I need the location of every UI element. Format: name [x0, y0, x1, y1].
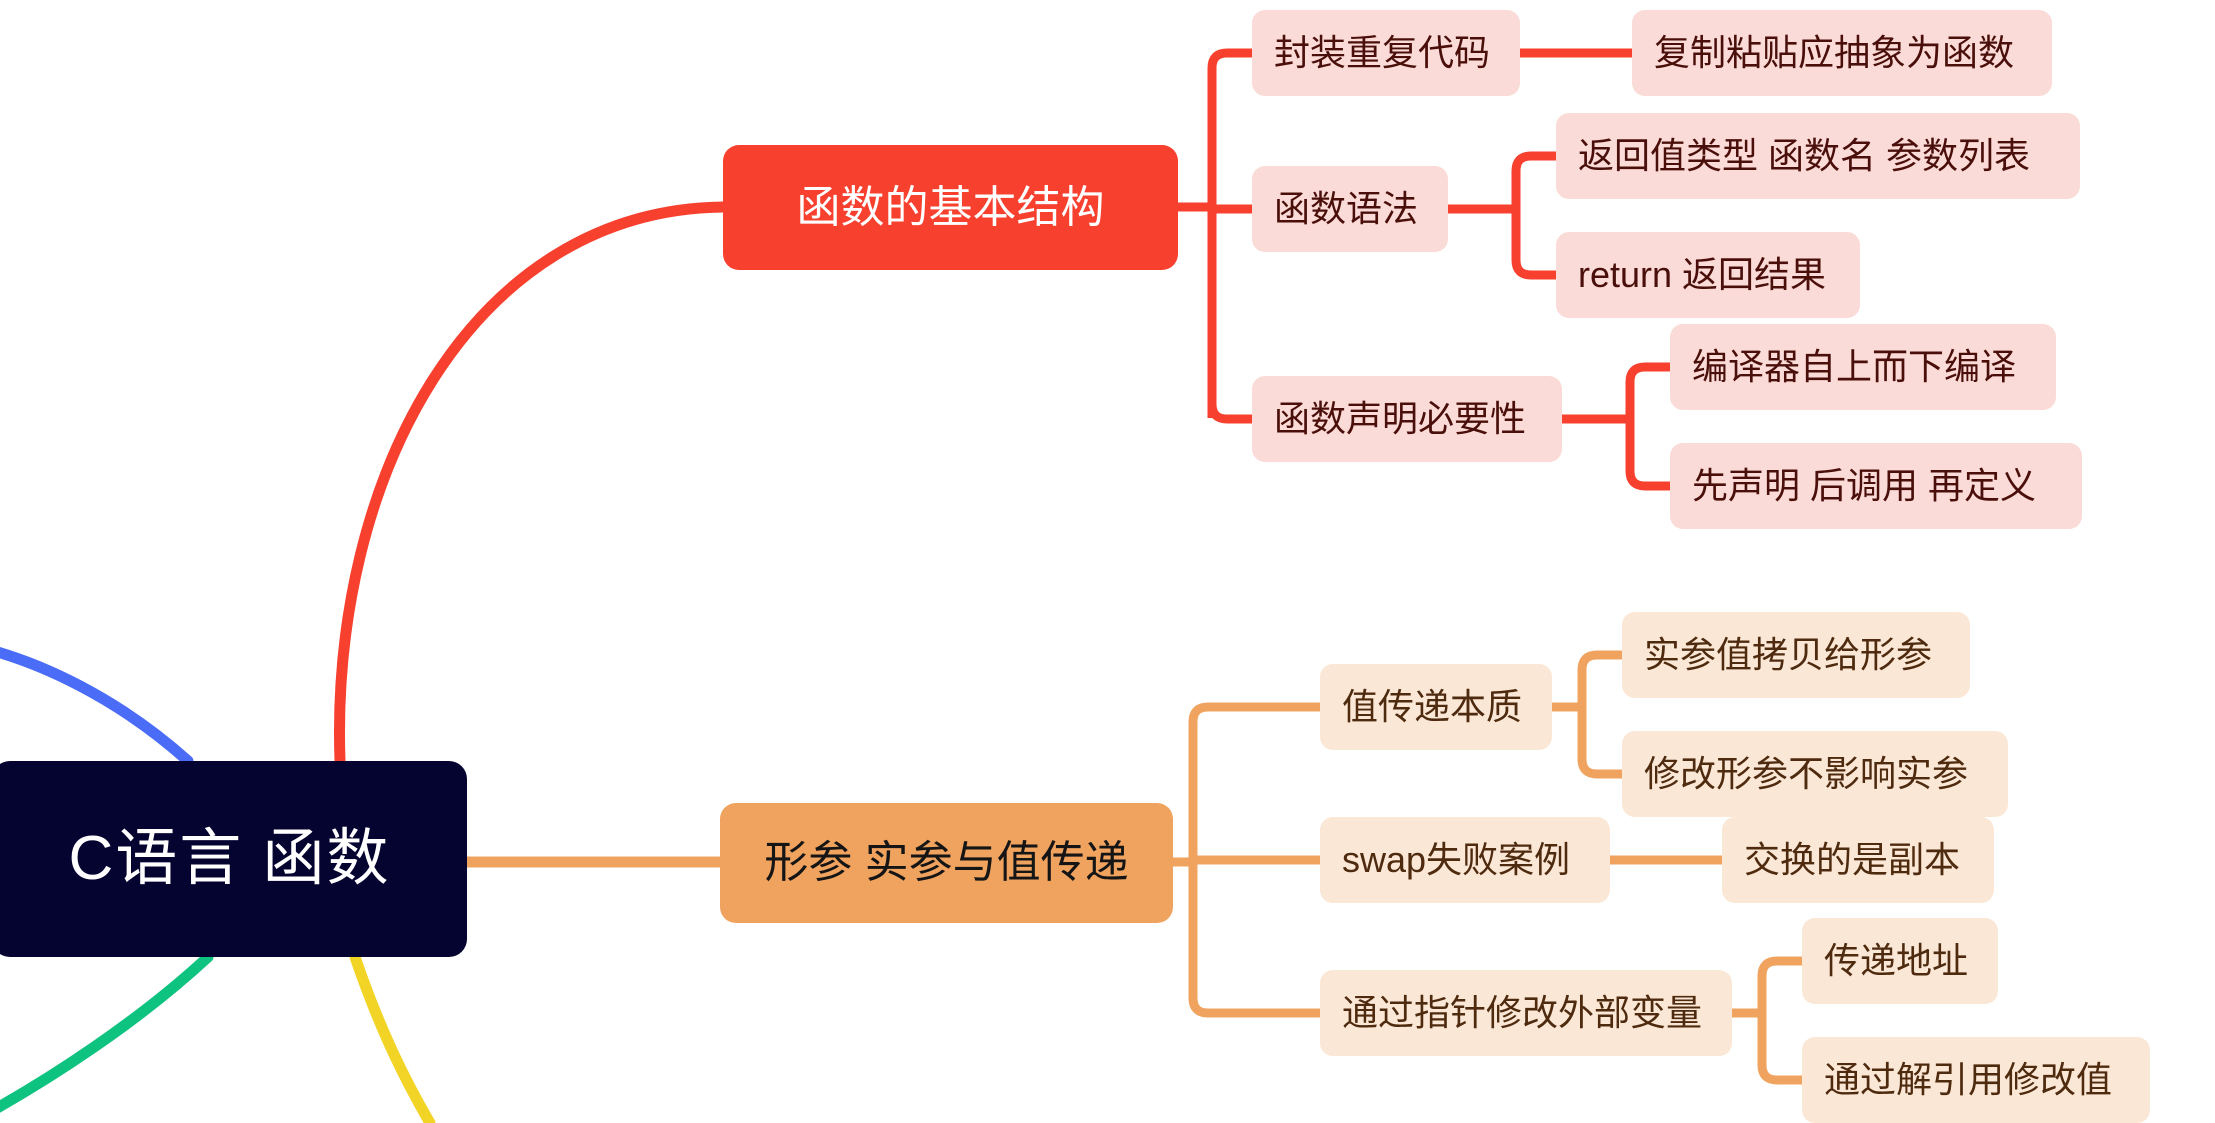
node-actual-copied-to-formal[interactable]: 实参值拷贝给形参: [1622, 612, 1970, 698]
node-swap-failure-case[interactable]: swap失败案例: [1320, 817, 1610, 903]
green-branch-stub: [0, 957, 208, 1123]
connector-value-passing-to-modify-formal: [1582, 707, 1622, 774]
branch-node-function-basic-structure[interactable]: 函数的基本结构: [723, 145, 1178, 270]
node-swapping-the-copy[interactable]: 交换的是副本: [1722, 817, 1994, 903]
node-return-type-name-params[interactable]: 返回值类型 函数名 参数列表: [1556, 113, 2080, 199]
connector-declaration-to-compiler-top-down: [1630, 367, 1670, 419]
node-modify-external-via-pointer[interactable]: 通过指针修改外部变量: [1320, 970, 1732, 1056]
connector-root-to-function-basic-structure: [339, 207, 723, 761]
node-label: 返回值类型 函数名 参数列表: [1578, 138, 2030, 174]
node-copy-paste-abstract-to-function[interactable]: 复制粘贴应抽象为函数: [1632, 10, 2052, 96]
node-label: 通过解引用修改值: [1824, 1062, 2112, 1098]
node-modify-formal-no-effect[interactable]: 修改形参不影响实参: [1622, 731, 2008, 817]
node-encapsulate-repeated-code[interactable]: 封装重复代码: [1252, 10, 1520, 96]
node-label: 先声明 后调用 再定义: [1692, 468, 2036, 504]
branch-node-label: 形参 实参与值传递: [764, 841, 1128, 885]
node-return-result[interactable]: return 返回结果: [1556, 232, 1860, 318]
connector-orange-to-value-passing-essence: [1193, 707, 1320, 722]
connector-orange-to-modify-external-via-pointer: [1193, 998, 1320, 1013]
connector-red-to-function-declaration-necessity: [1212, 404, 1252, 419]
node-label: swap失败案例: [1342, 842, 1570, 878]
node-label: 修改形参不影响实参: [1644, 756, 1968, 792]
connector-function-syntax-to-return-type: [1516, 156, 1556, 209]
connector-pointer-to-modify-via-dereference: [1762, 1013, 1802, 1080]
node-label: 交换的是副本: [1744, 842, 1960, 878]
connector-pointer-to-pass-address: [1762, 961, 1802, 1013]
branch-node-params-and-value-passing[interactable]: 形参 实参与值传递: [720, 803, 1173, 923]
node-pass-address[interactable]: 传递地址: [1802, 918, 1998, 1004]
node-label: 函数语法: [1274, 191, 1418, 227]
node-modify-via-dereference[interactable]: 通过解引用修改值: [1802, 1037, 2150, 1123]
node-function-syntax[interactable]: 函数语法: [1252, 166, 1448, 252]
node-label: 封装重复代码: [1274, 35, 1490, 71]
node-label: 实参值拷贝给形参: [1644, 637, 1932, 673]
branch-node-label: 函数的基本结构: [797, 186, 1105, 230]
node-label: 通过指针修改外部变量: [1342, 995, 1702, 1031]
mindmap-canvas: C语言 函数 函数的基本结构 封装重复代码 复制粘贴应抽象为函数 函数语法 返回…: [0, 0, 2215, 1123]
yellow-branch-stub: [355, 957, 430, 1123]
connector-red-to-encapsulate-repeated-code: [1212, 53, 1252, 75]
root-node-c-language-functions[interactable]: C语言 函数: [0, 761, 467, 957]
connector-declaration-to-declare-call-define: [1630, 419, 1670, 486]
blue-branch-stub: [0, 645, 188, 761]
root-node-label: C语言 函数: [68, 828, 390, 890]
node-declare-call-define[interactable]: 先声明 后调用 再定义: [1670, 443, 2082, 529]
connector-value-passing-to-actual-copied: [1582, 655, 1622, 707]
node-label: 值传递本质: [1342, 689, 1522, 725]
node-label: 函数声明必要性: [1274, 401, 1526, 437]
node-label: return 返回结果: [1578, 257, 1826, 293]
node-compiler-top-down[interactable]: 编译器自上而下编译: [1670, 324, 2056, 410]
node-value-passing-essence[interactable]: 值传递本质: [1320, 664, 1552, 750]
node-label: 复制粘贴应抽象为函数: [1654, 35, 2014, 71]
node-label: 传递地址: [1824, 943, 1968, 979]
node-label: 编译器自上而下编译: [1692, 349, 2016, 385]
connector-function-syntax-to-return-result: [1516, 209, 1556, 275]
node-function-declaration-necessity[interactable]: 函数声明必要性: [1252, 376, 1562, 462]
